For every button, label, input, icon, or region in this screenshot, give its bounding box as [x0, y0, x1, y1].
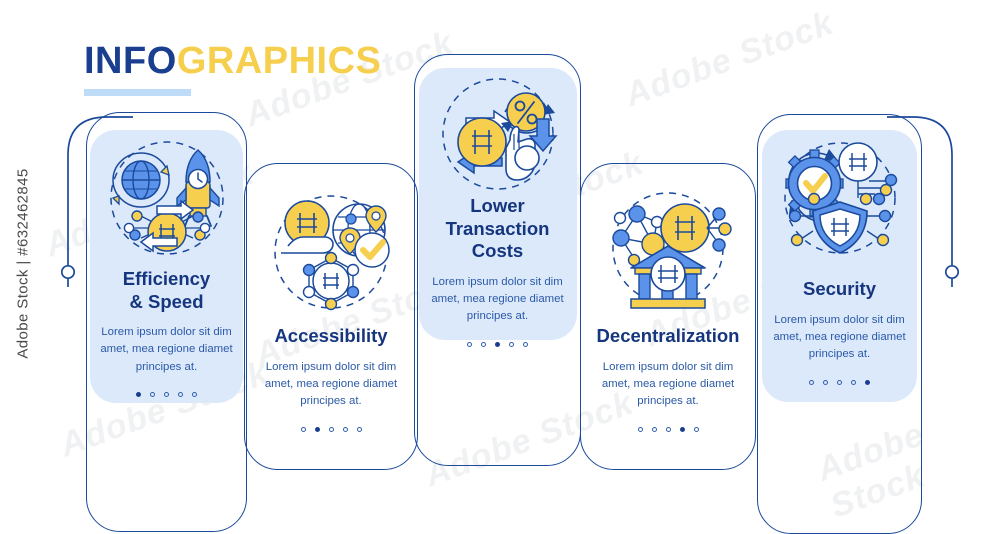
step-dot[interactable]	[178, 392, 183, 397]
step-dot[interactable]	[481, 342, 486, 347]
step-indicator-dots[interactable]	[256, 427, 406, 432]
step-dot[interactable]	[809, 380, 814, 385]
card-title-line: Accessibility	[256, 325, 406, 348]
card-text-body: Accessibility Lorem ipsum dolor sit dim …	[244, 325, 418, 432]
page-title-part-info: INFO	[84, 40, 177, 82]
card-description: Lorem ipsum dolor sit dim amet, mea regi…	[592, 359, 744, 411]
card-description: Lorem ipsum dolor sit dim amet, mea regi…	[769, 312, 910, 364]
page-title-part-graphics: GRAPHICS	[177, 40, 382, 82]
step-dot[interactable]	[523, 342, 528, 347]
step-dot[interactable]	[467, 342, 472, 347]
card-title-line: Efficiency	[98, 268, 235, 291]
step-indicator-dots[interactable]	[98, 392, 235, 397]
step-dot[interactable]	[495, 342, 500, 347]
card-title-line: Transaction	[426, 218, 569, 241]
card-title: Security	[769, 278, 910, 301]
step-dot[interactable]	[150, 392, 155, 397]
step-dot[interactable]	[329, 427, 334, 432]
network-coin-bank-icon	[601, 188, 735, 314]
coin-hand-globe-check-icon	[265, 190, 397, 320]
step-dot[interactable]	[837, 380, 842, 385]
watermark-tile: Adobe Stock	[620, 4, 839, 115]
step-indicator-dots[interactable]	[592, 427, 744, 432]
step-dot[interactable]	[694, 427, 699, 432]
card-title: Efficiency & Speed	[98, 268, 235, 313]
card-title: Lower Transaction Costs	[426, 195, 569, 263]
step-dot[interactable]	[865, 380, 870, 385]
watermark-text: Adobe Stock | #632462845	[15, 168, 32, 358]
step-dot[interactable]	[164, 392, 169, 397]
card-title-line: Decentralization	[592, 325, 744, 348]
step-dot[interactable]	[851, 380, 856, 385]
step-indicator-dots[interactable]	[769, 380, 910, 385]
card-title-line: Security	[769, 278, 910, 301]
step-dot[interactable]	[823, 380, 828, 385]
card-title-line: & Speed	[98, 291, 235, 314]
card-text-body: Lower Transaction Costs Lorem ipsum dolo…	[414, 195, 581, 347]
title-underline-rule	[84, 89, 191, 96]
step-dot[interactable]	[136, 392, 141, 397]
step-dot[interactable]	[301, 427, 306, 432]
page-header: INFOGRAPHICS	[84, 42, 381, 96]
card-title: Decentralization	[592, 325, 744, 348]
card-title-line: Lower	[426, 195, 569, 218]
step-dot[interactable]	[343, 427, 348, 432]
card-title: Accessibility	[256, 325, 406, 348]
globe-rocket-network-icon	[101, 136, 233, 266]
step-dot[interactable]	[192, 392, 197, 397]
card-icon	[773, 136, 907, 264]
step-dot[interactable]	[638, 427, 643, 432]
step-dot[interactable]	[680, 427, 685, 432]
card-icon	[101, 136, 233, 266]
card-icon	[432, 74, 564, 199]
adobe-stock-watermark: Adobe Stock | #632462845	[6, 0, 40, 526]
step-dot[interactable]	[509, 342, 514, 347]
card-description: Lorem ipsum dolor sit dim amet, mea regi…	[426, 274, 569, 326]
card-text-body: Efficiency & Speed Lorem ipsum dolor sit…	[86, 268, 247, 397]
card-text-body: Security Lorem ipsum dolor sit dim amet,…	[757, 278, 922, 385]
card-description: Lorem ipsum dolor sit dim amet, mea regi…	[98, 324, 235, 376]
card-icon	[265, 190, 397, 320]
coin-percent-ok-hand-icon	[432, 74, 564, 199]
step-dot[interactable]	[357, 427, 362, 432]
page-title: INFOGRAPHICS	[84, 42, 381, 80]
card-title-line: Costs	[426, 240, 569, 263]
step-dot[interactable]	[315, 427, 320, 432]
step-dot[interactable]	[666, 427, 671, 432]
gear-check-shield-coin-icon	[773, 136, 907, 264]
step-dot[interactable]	[652, 427, 657, 432]
card-text-body: Decentralization Lorem ipsum dolor sit d…	[580, 325, 756, 432]
step-indicator-dots[interactable]	[426, 342, 569, 347]
card-description: Lorem ipsum dolor sit dim amet, mea regi…	[256, 359, 406, 411]
card-icon	[601, 188, 735, 314]
